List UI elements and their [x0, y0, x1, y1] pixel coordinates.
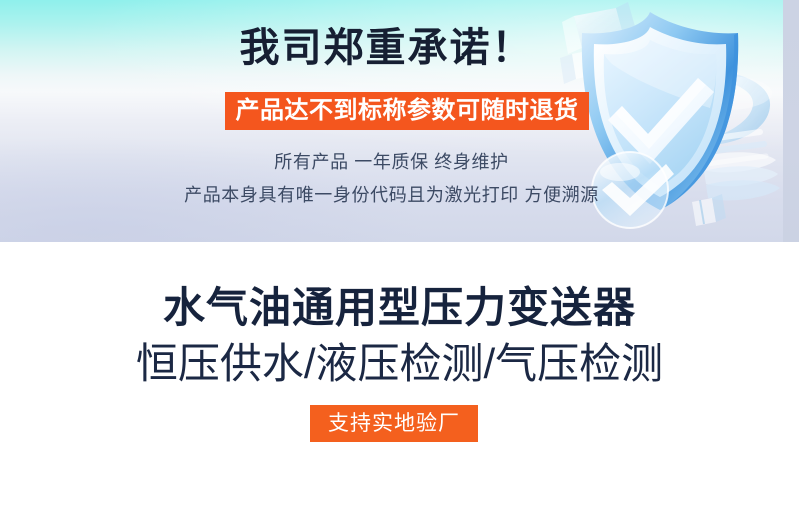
banner-subline-1: 所有产品 一年质保 终身维护 — [0, 148, 783, 174]
banner-text-block: 我司郑重承诺！ 产品达不到标称参数可随时退货 所有产品 一年质保 终身维护 产品… — [0, 0, 783, 242]
product-subtitle: 恒压供水/液压检测/气压检测 — [0, 337, 799, 391]
product-title: 水气油通用型压力变送器 — [0, 282, 799, 334]
promise-guarantee-text: 产品达不到标称参数可随时退货 — [236, 99, 579, 123]
banner-subline-2: 产品本身具有唯一身份代码且为激光打印 方便溯源 — [0, 181, 783, 207]
factory-inspection-badge: 支持实地验厂 — [310, 405, 478, 442]
banner-headline-text: 我司郑重承诺！ — [240, 23, 534, 73]
banner-right-margin-strip — [783, 0, 799, 242]
promise-guarantee-bar: 产品达不到标称参数可随时退货 — [225, 92, 589, 130]
factory-inspection-badge-text: 支持实地验厂 — [328, 413, 460, 434]
promise-banner: 我司郑重承诺！ 产品达不到标称参数可随时退货 所有产品 一年质保 终身维护 产品… — [0, 0, 799, 242]
promo-page: 我司郑重承诺！ 产品达不到标称参数可随时退货 所有产品 一年质保 终身维护 产品… — [0, 0, 799, 519]
banner-headline: 我司郑重承诺！ — [0, 23, 783, 73]
product-intro-section: 水气油通用型压力变送器 恒压供水/液压检测/气压检测 支持实地验厂 — [0, 242, 799, 519]
